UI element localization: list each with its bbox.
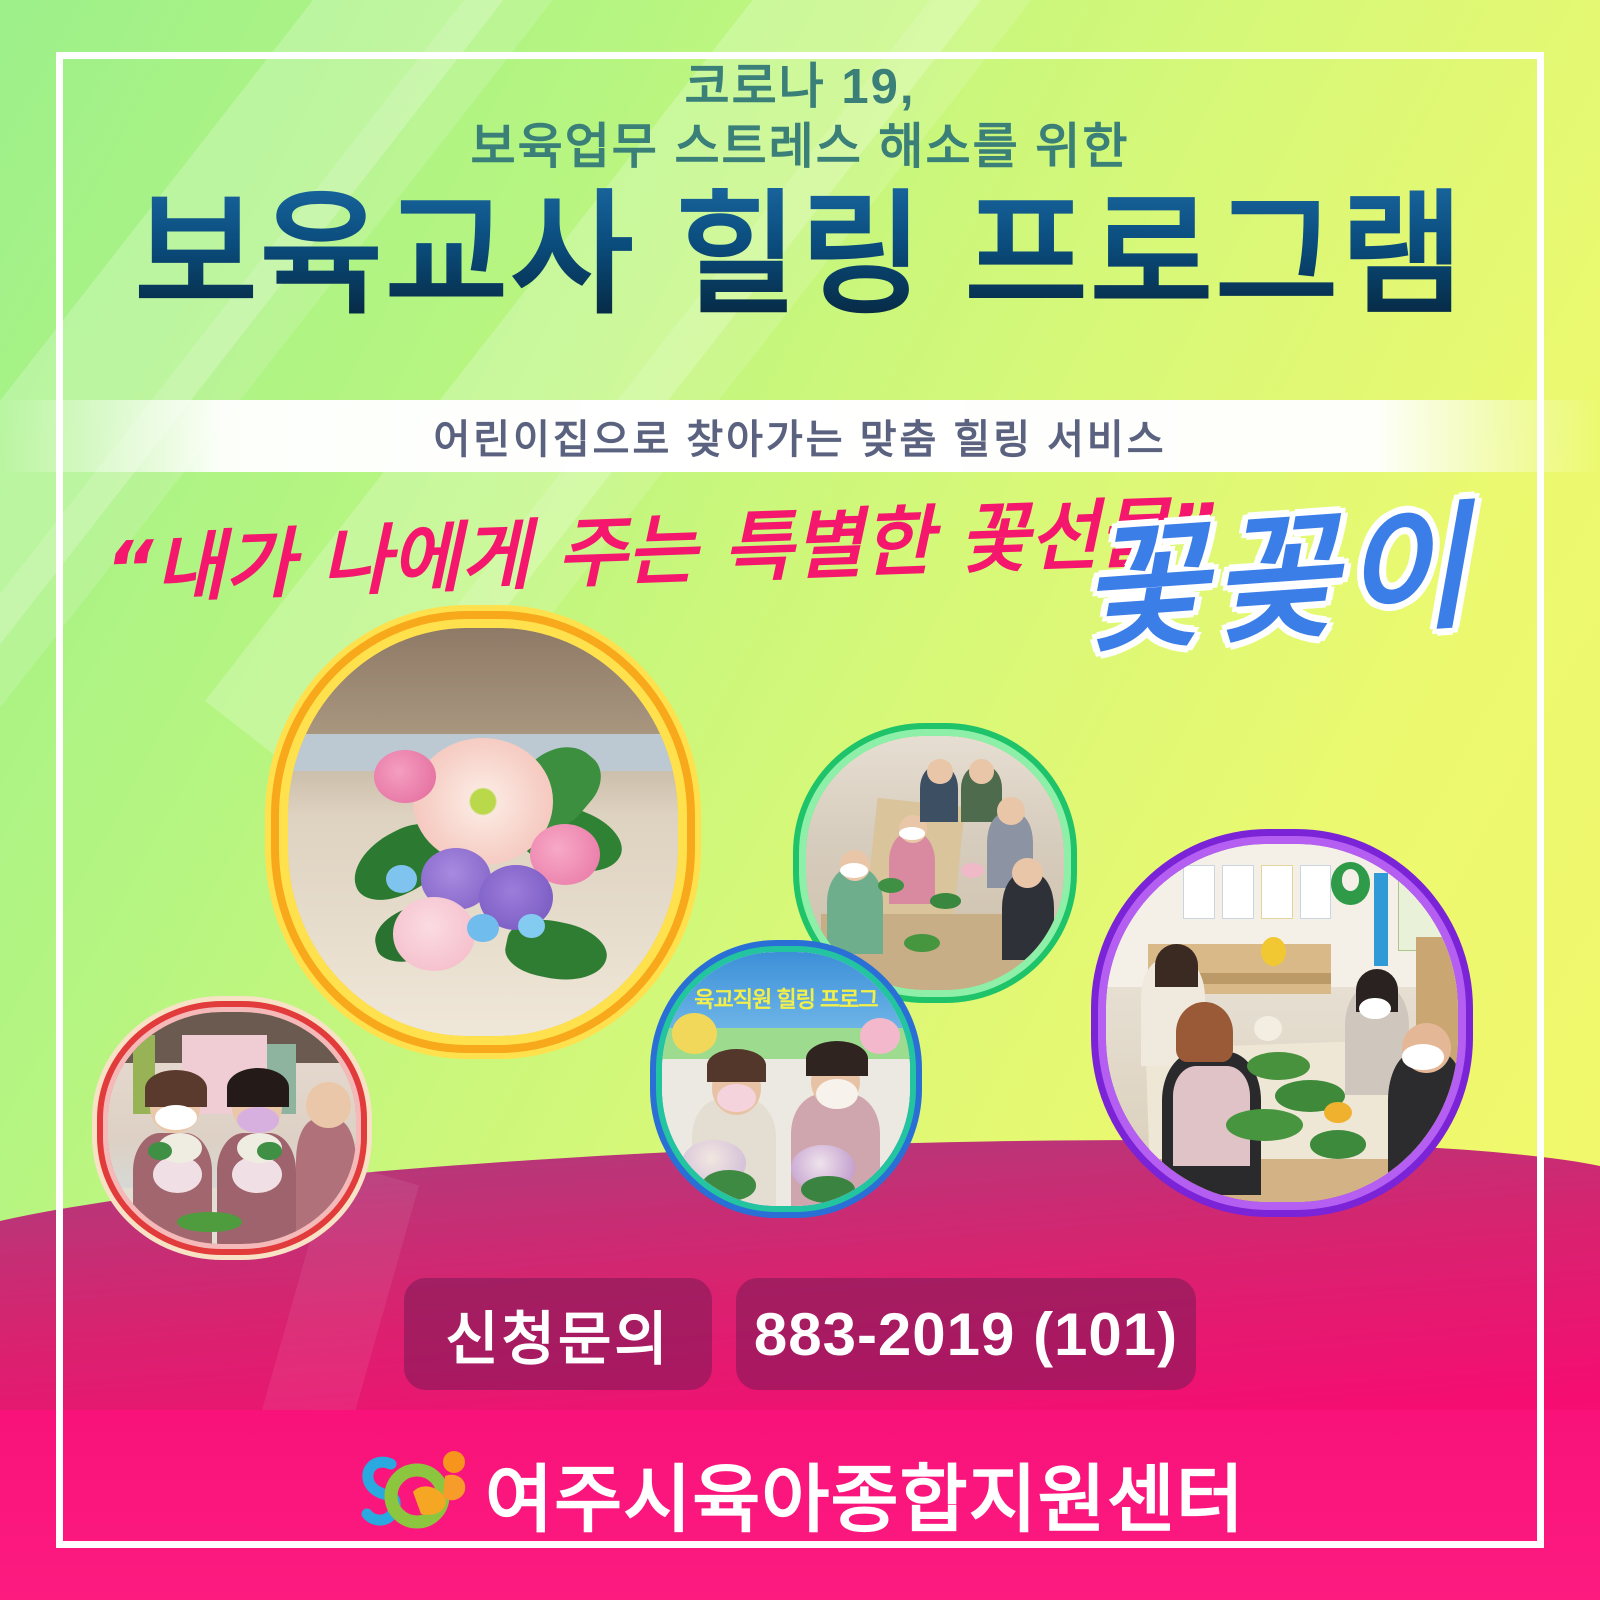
tagline-text: 어린이집으로 찾아가는 맞춤 힐링 서비스: [433, 407, 1166, 465]
phone-number[interactable]: 883-2019 (101): [736, 1278, 1196, 1390]
brush-word-flower-arranging: 꽃꽂이: [1072, 457, 1478, 681]
photo-two-teachers-pots: [108, 1012, 356, 1244]
tagline-band: 어린이집으로 찾아가는 맞춤 힐링 서비스: [0, 400, 1600, 472]
organization-name: 여주시육아종합지원센터: [485, 1440, 1245, 1547]
footer-row: 여주시육아종합지원센터: [0, 1440, 1600, 1547]
contact-row: 신청문의 883-2019 (101): [0, 1278, 1600, 1390]
handwritten-quote: “내가 나에게 주는 특별한 꽃선물”: [103, 476, 1036, 618]
application-inquiry-badge[interactable]: 신청문의: [404, 1278, 712, 1390]
soi-swirl-logo-icon: [355, 1448, 471, 1540]
kicker-text: 코로나 19, 보육업무 스트레스 해소를 위한: [0, 58, 1600, 178]
page-title: 보육교사 힐링 프로그램: [0, 188, 1600, 325]
photo-banner-text: 육교직원 힐링 프로그: [672, 982, 900, 1014]
photo-classroom-arranging: [1106, 844, 1458, 1202]
poster-canvas: 코로나 19, 보육업무 스트레스 해소를 위한 보육교사 힐링 프로그램 어린…: [0, 0, 1600, 1600]
photo-flower-bouquet: [288, 628, 678, 1036]
poster-header: 코로나 19, 보육업무 스트레스 해소를 위한 보육교사 힐링 프로그램: [0, 58, 1600, 324]
photo-two-teachers-banner: 육교직원 힐링 프로그: [662, 952, 910, 1206]
